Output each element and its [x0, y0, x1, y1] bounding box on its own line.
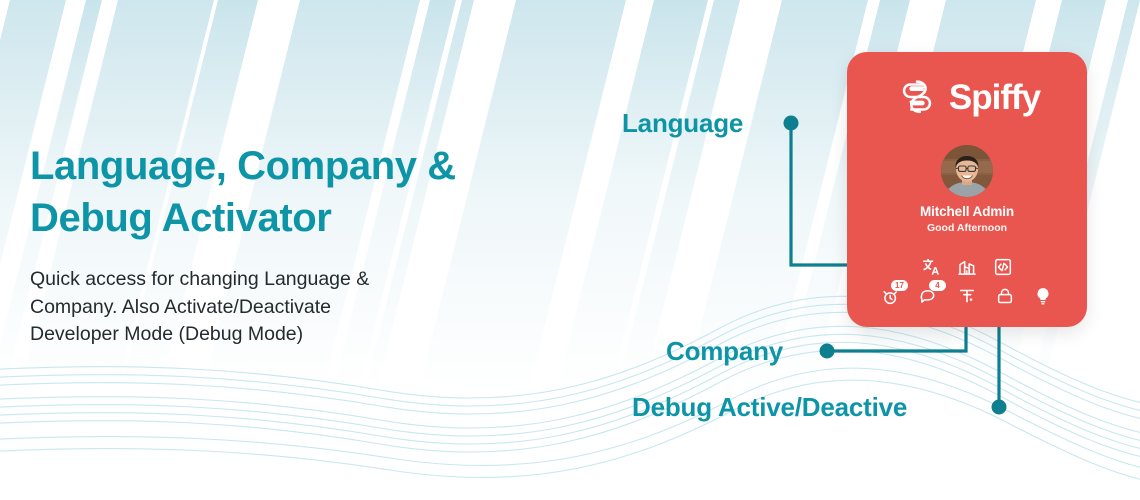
quick-action-row-secondary: 17 4: [847, 285, 1087, 307]
callout-label-company: Company: [666, 336, 783, 367]
page-description: Quick access for changing Language & Com…: [30, 266, 550, 349]
dot-company: [820, 344, 835, 359]
code-debug-icon[interactable]: [992, 256, 1014, 278]
user-greeting: Good Afternoon: [847, 222, 1087, 234]
lightbulb-icon[interactable]: [1032, 285, 1054, 307]
lock-icon[interactable]: [994, 285, 1016, 307]
page-title: Language, Company & Debug Activator: [30, 140, 550, 244]
translate-icon[interactable]: [920, 256, 942, 278]
callout-label-language: Language: [622, 108, 743, 139]
spiffy-user-card: Spiffy: [847, 52, 1087, 327]
timer-badge: 17: [891, 280, 908, 291]
text-block: Language, Company & Debug Activator Quic…: [30, 140, 550, 349]
brand-name: Spiffy: [949, 80, 1040, 115]
dot-debug: [992, 400, 1007, 415]
chat-bubble-icon[interactable]: 4: [918, 285, 940, 307]
avatar-photo: [941, 145, 993, 197]
spiffy-paperclip-logo-icon: [894, 74, 940, 120]
activity-icon[interactable]: [956, 285, 978, 307]
timer-icon[interactable]: 17: [880, 285, 902, 307]
quick-action-row-primary: [847, 256, 1087, 278]
brand-logo: Spiffy: [847, 74, 1087, 120]
dot-language: [784, 116, 799, 131]
user-name: Mitchell Admin: [847, 204, 1087, 219]
chat-badge: 4: [929, 280, 946, 291]
promo-banner: Language, Company & Debug Activator Quic…: [0, 0, 1140, 500]
avatar[interactable]: [941, 145, 993, 197]
callout-label-debug: Debug Active/Deactive: [632, 392, 907, 423]
company-building-icon[interactable]: [956, 256, 978, 278]
